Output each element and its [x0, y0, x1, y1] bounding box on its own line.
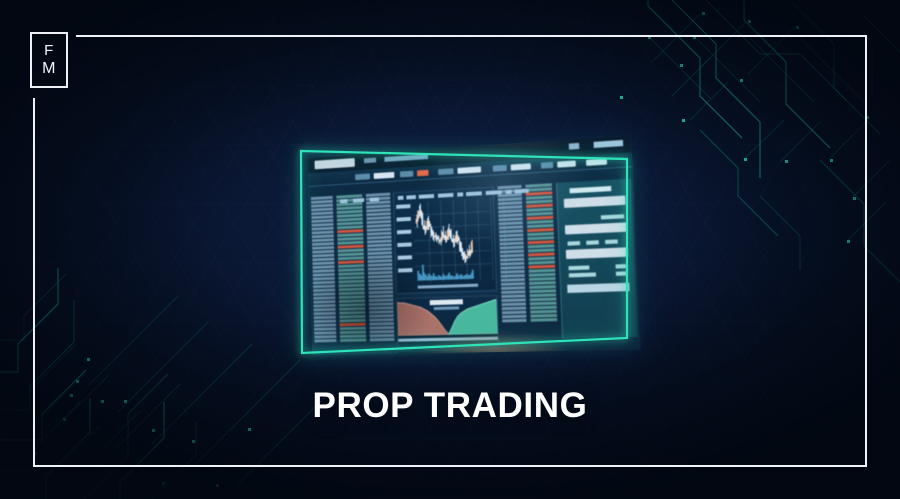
- banner-canvas: F M PROP TRADING: [0, 0, 900, 499]
- cyan-frame-svg: [300, 148, 630, 356]
- frame-line-top: [76, 35, 867, 37]
- logo-letter-m: M: [42, 61, 56, 77]
- terminal-account-label: [594, 140, 624, 148]
- page-title: PROP TRADING: [0, 386, 900, 426]
- logo-letter-f: F: [44, 43, 54, 58]
- fm-logo[interactable]: F M: [30, 32, 68, 88]
- frame-line-bottom: [33, 465, 867, 467]
- cyan-accent-frame: [300, 148, 630, 356]
